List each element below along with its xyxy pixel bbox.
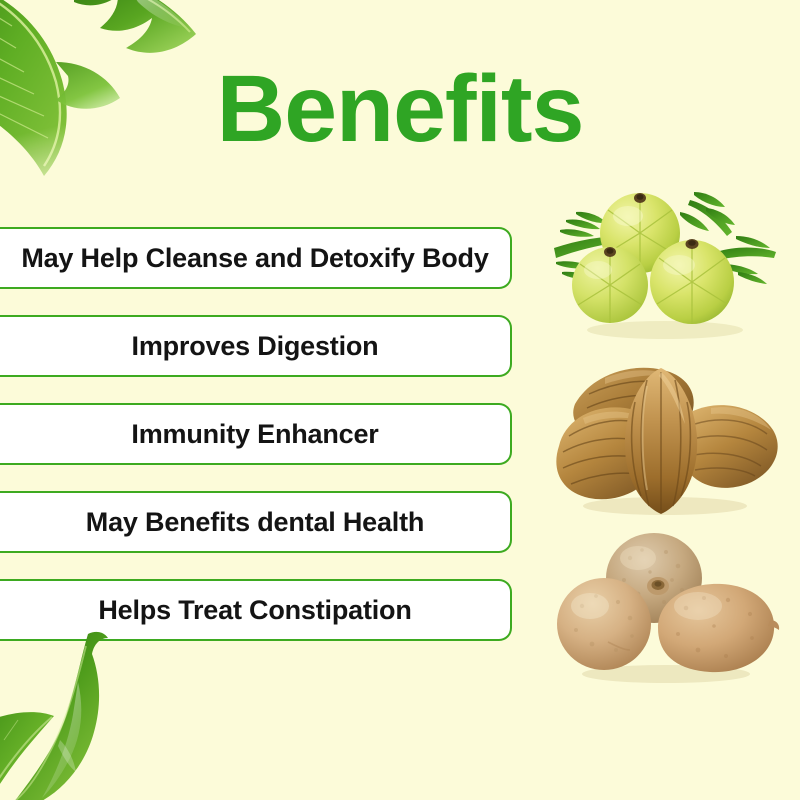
benefit-item[interactable]: Improves Digestion [0, 315, 512, 377]
bibhitaki-fruit [658, 584, 779, 672]
benefit-label: Immunity Enhancer [131, 419, 378, 450]
page-title: Benefits [0, 62, 800, 157]
benefit-item[interactable]: May Benefits dental Health [0, 491, 512, 553]
amla-leaf-sprig [680, 192, 735, 236]
benefit-item[interactable]: Helps Treat Constipation [0, 579, 512, 641]
benefit-label: Helps Treat Constipation [98, 595, 411, 626]
amla-berry [572, 247, 648, 323]
benefit-item[interactable]: Immunity Enhancer [0, 403, 512, 465]
benefit-label: May Benefits dental Health [86, 507, 424, 538]
benefits-poster: Benefits May Help Cleanse and Detoxify B… [0, 0, 800, 800]
amla-fruit-photo [540, 178, 790, 343]
benefit-item[interactable]: May Help Cleanse and Detoxify Body [0, 227, 512, 289]
bibhitaki-fruit [557, 578, 651, 670]
bibhitaki-fruit-photo [546, 524, 786, 684]
benefits-list: May Help Cleanse and Detoxify Body Impro… [0, 227, 512, 667]
benefit-label: May Help Cleanse and Detoxify Body [21, 243, 488, 274]
haritaki-fruit-photo [543, 350, 788, 518]
benefit-label: Improves Digestion [132, 331, 379, 362]
leaf-blade [0, 712, 54, 800]
